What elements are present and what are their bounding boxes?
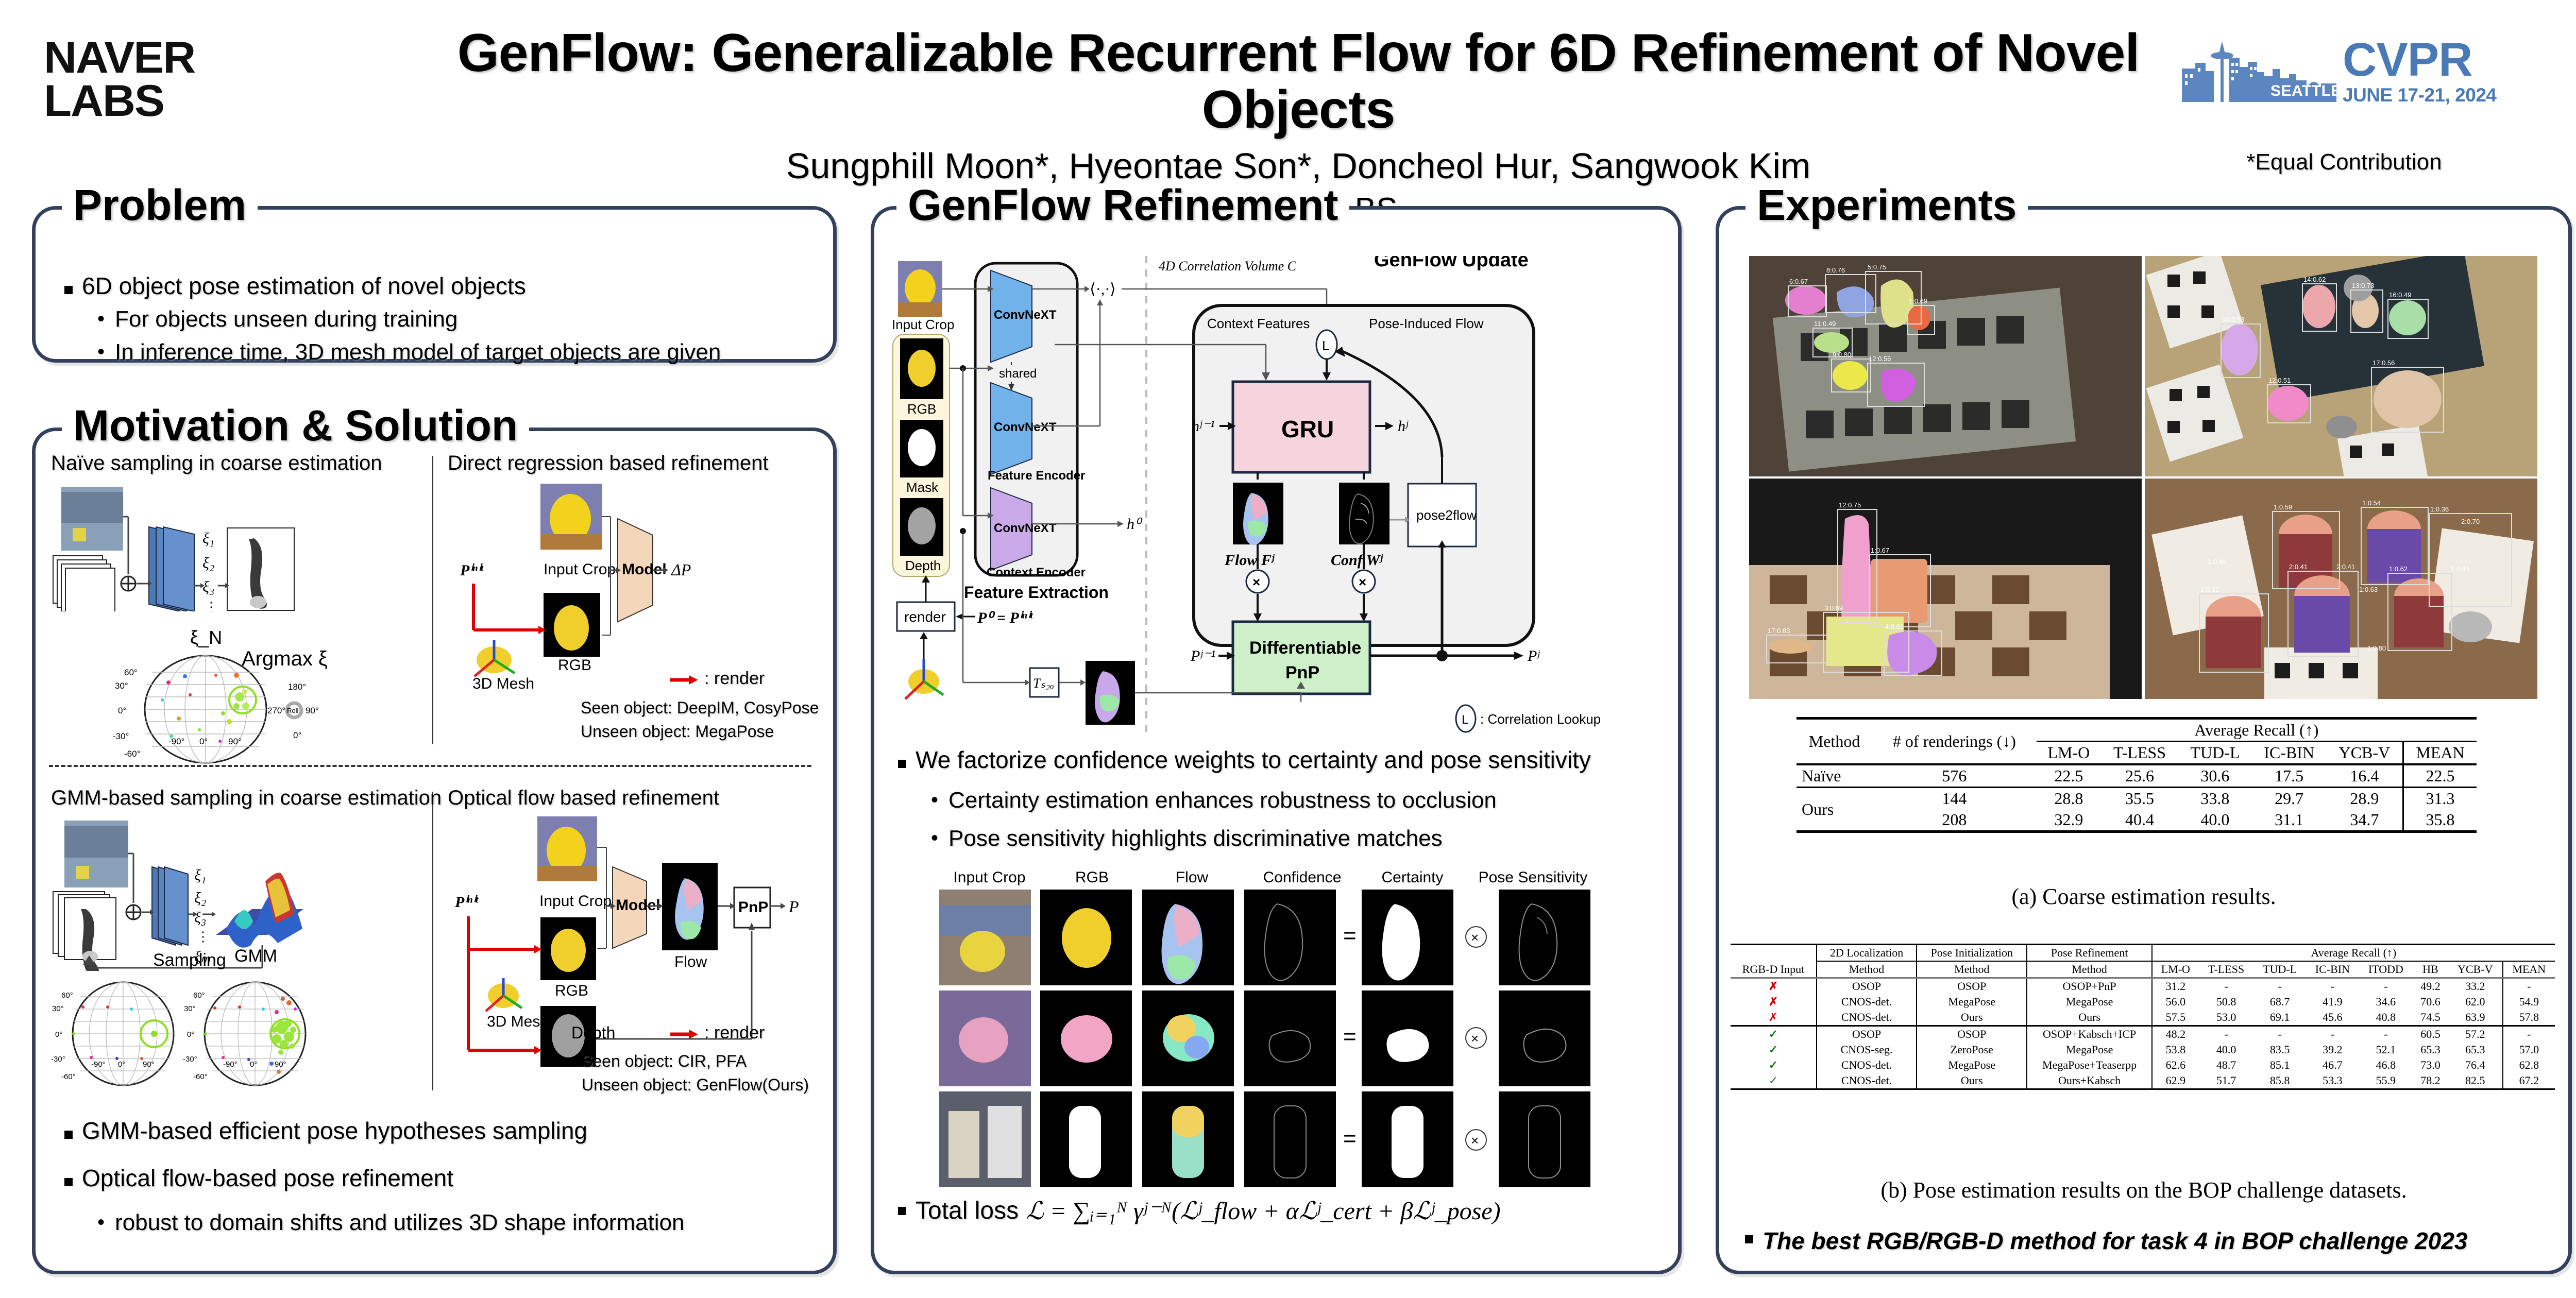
bullet-item: GMM-based efficient pose hypotheses samp… bbox=[64, 1116, 796, 1145]
quadrant-head-gmm-sampling: GMM-based sampling in coarse estimation bbox=[51, 787, 442, 809]
cell: 85.1 bbox=[2253, 1057, 2306, 1073]
cell: 17.5 bbox=[2252, 764, 2327, 788]
note-unseen-object-top: Unseen object: MegaPose bbox=[581, 723, 774, 741]
cell: 25.6 bbox=[2101, 764, 2178, 788]
cell: 48.2 bbox=[2152, 1026, 2199, 1043]
quadrant-divider-top bbox=[432, 456, 433, 744]
problem-bullets: 6D object pose estimation of novel objec… bbox=[36, 210, 833, 366]
table-row: RGB-D Input Method Method Method LM-O T-… bbox=[1731, 961, 2555, 978]
cell: CNOS-det. bbox=[1817, 1010, 1917, 1026]
svg-text:×: × bbox=[1252, 574, 1260, 590]
table-row: ✗ OSOP OSOP OSOP+PnP 31.2 - - - - 49.2 3… bbox=[1731, 978, 2555, 995]
table-row: ✗ CNOS-det. Ours Ours 57.5 53.0 69.1 45.… bbox=[1731, 1010, 2555, 1026]
cell: OSOP bbox=[1817, 1026, 1917, 1043]
label-flow-f: Flow Fʲ bbox=[1224, 552, 1275, 569]
cell: 34.7 bbox=[2327, 809, 2403, 832]
quadrant-head-direct-regression: Direct regression based refinement bbox=[448, 452, 769, 474]
svg-text:ConvNeXT: ConvNeXT bbox=[994, 420, 1057, 434]
grid-header: Certainty bbox=[1365, 869, 1460, 886]
note-seen-object-bottom: Seen object: CIR, PFA bbox=[582, 1052, 747, 1070]
svg-text:1:0.62: 1:0.62 bbox=[2389, 565, 2408, 573]
svg-text:Pⁱⁿⁱᵗ: Pⁱⁿⁱᵗ bbox=[454, 894, 479, 911]
section-motivation: Naïve sampling in coarse estimation ξ₁ ξ bbox=[32, 428, 837, 1274]
render-arrow-icon-top bbox=[669, 672, 700, 688]
cell: 54.9 bbox=[2503, 994, 2555, 1010]
cell: 208 bbox=[1872, 809, 2037, 832]
motivation-bullets: GMM-based efficient pose hypotheses samp… bbox=[64, 1116, 796, 1242]
note-unseen-object-bottom: Unseen object: GenFlow(Ours) bbox=[582, 1076, 809, 1094]
cell: - bbox=[2253, 1026, 2306, 1043]
cell: 53.3 bbox=[2306, 1073, 2359, 1089]
experiments-final-bullet: The best RGB/RGB-D method for task 4 in … bbox=[1745, 1227, 2467, 1255]
svg-text:-30°: -30° bbox=[51, 1055, 65, 1064]
svg-text:17:0.83: 17:0.83 bbox=[1768, 627, 1790, 635]
cell: 57.0 bbox=[2503, 1042, 2555, 1057]
cell: 65.3 bbox=[2413, 1042, 2448, 1057]
cell: OSOP bbox=[1917, 978, 2027, 995]
svg-text:ξ₃: ξ₃ bbox=[194, 909, 206, 926]
svg-text:Input Crop: Input Crop bbox=[544, 561, 616, 578]
rgbd-mark-x: ✗ bbox=[1731, 1010, 1817, 1026]
cell: 63.9 bbox=[2448, 1010, 2503, 1026]
confidence-grid-images: = = = × × × bbox=[939, 890, 1604, 1188]
svg-text:12:0.75: 12:0.75 bbox=[1839, 501, 1861, 509]
col-header-method-3: Method bbox=[2027, 961, 2151, 978]
svg-text:8:0.76: 8:0.76 bbox=[1826, 266, 1845, 274]
svg-text:3D Mesh: 3D Mesh bbox=[487, 1013, 549, 1030]
cell: 56.0 bbox=[2152, 994, 2199, 1010]
table-row: 208 32.9 40.4 40.0 31.1 34.7 35.8 bbox=[1797, 809, 2477, 832]
table-a: Method # of renderings (↓) Average Recal… bbox=[1797, 717, 2477, 833]
svg-text:0°: 0° bbox=[118, 1060, 125, 1069]
cell: 46.7 bbox=[2306, 1057, 2359, 1073]
svg-text:RGB: RGB bbox=[555, 982, 588, 999]
svg-text:RGB: RGB bbox=[558, 657, 591, 674]
cell: CNOS-det. bbox=[1817, 994, 1917, 1010]
svg-text:Roll: Roll bbox=[287, 707, 299, 714]
rgbd-mark-x: ✗ bbox=[1731, 978, 1817, 995]
grid-header: Input Crop bbox=[939, 869, 1040, 886]
cell: MegaPose bbox=[1917, 1057, 2027, 1073]
svg-text:14:0.62: 14:0.62 bbox=[2303, 276, 2326, 283]
cell: MegaPose+Teaserpp bbox=[2027, 1057, 2151, 1073]
table-row: ✓ CNOS-det. MegaPose MegaPose+Teaserpp 6… bbox=[1731, 1057, 2555, 1073]
cvpr-wordmark: CVPR bbox=[2343, 36, 2472, 83]
svg-text:4:0.81: 4:0.81 bbox=[1885, 623, 1904, 630]
cell: 50.8 bbox=[2199, 994, 2253, 1010]
svg-text:GenFlow Update: GenFlow Update bbox=[1374, 256, 1529, 271]
svg-text:0°: 0° bbox=[199, 737, 208, 746]
svg-text:1:0.49: 1:0.49 bbox=[2208, 558, 2226, 566]
cell: 48.7 bbox=[2199, 1057, 2253, 1073]
svg-text:-30°: -30° bbox=[113, 731, 129, 741]
svg-text:1:0.44: 1:0.44 bbox=[2451, 565, 2469, 573]
label-conf-w: Conf Wʲ bbox=[1331, 552, 1383, 569]
cell: 67.2 bbox=[2503, 1073, 2555, 1089]
cell: 51.7 bbox=[2199, 1073, 2253, 1089]
table-row: ✗ CNOS-det. MegaPose MegaPose 56.0 50.8 … bbox=[1731, 994, 2555, 1010]
cell: 22.5 bbox=[2403, 764, 2477, 788]
cell: 576 bbox=[1872, 764, 2037, 788]
sphere-plot-naive: 60°30°0° -30°-60° -90°0°90° 180°270°90° … bbox=[113, 653, 360, 766]
svg-text:-30°: -30° bbox=[183, 1055, 197, 1064]
svg-text:9:0.80: 9:0.80 bbox=[1833, 351, 1851, 358]
svg-text:13:0.73: 13:0.73 bbox=[2352, 282, 2374, 289]
cell: 62.8 bbox=[2503, 1057, 2555, 1073]
render-legend-top: : render bbox=[704, 669, 765, 688]
col-header-method: Method bbox=[1797, 719, 1872, 765]
cell: Ours bbox=[1917, 1010, 2027, 1026]
cell: - bbox=[2306, 978, 2359, 995]
bullet-item: •Certainty estimation enhances robustnes… bbox=[931, 787, 1640, 814]
svg-text:0°: 0° bbox=[55, 1030, 62, 1039]
svg-text:5:0.75: 5:0.75 bbox=[1868, 263, 1886, 271]
col-header-lmo: LM-O bbox=[2037, 742, 2101, 765]
group-header-avg-recall-b: Average Recall (↑) bbox=[2152, 945, 2555, 962]
svg-text:hʲ: hʲ bbox=[1398, 418, 1409, 435]
rgbd-mark-check: ✓ bbox=[1731, 1073, 1817, 1089]
rgbd-mark-check: ✓ bbox=[1731, 1042, 1817, 1057]
equal-contribution-note: *Equal Contribution bbox=[2246, 149, 2442, 175]
render-arrow-icon-bottom bbox=[669, 1027, 700, 1042]
note-seen-object-top: Seen object: DeepIM, CosyPose bbox=[581, 699, 819, 717]
qualitative-results-images: 6:0.678:0.765:0.75 11:0.491:0.699:0.80 1… bbox=[1749, 256, 2537, 699]
cell: 41.9 bbox=[2306, 994, 2359, 1010]
col-header-tless: T-LESS bbox=[2101, 742, 2178, 765]
svg-text:6:0.67: 6:0.67 bbox=[1789, 278, 1808, 285]
svg-text:1:0.32: 1:0.32 bbox=[2200, 586, 2219, 593]
svg-text:270°: 270° bbox=[267, 706, 285, 715]
author-list: Sungphill Moon*, Hyeontae Son*, Doncheol… bbox=[453, 146, 2143, 186]
genflow-architecture-diagram: Input Crop RGB Mask Depth ConvNeXT ConvN… bbox=[885, 256, 1668, 735]
cell: OSOP+PnP bbox=[2027, 978, 2151, 995]
svg-text:⋮: ⋮ bbox=[205, 599, 218, 611]
label-correlation-lookup: : Correlation Lookup bbox=[1480, 711, 1601, 727]
cell: 76.4 bbox=[2448, 1057, 2503, 1073]
svg-text:GRU: GRU bbox=[1281, 416, 1334, 442]
cell: 16.4 bbox=[2327, 764, 2403, 788]
col-header-hb: HB bbox=[2413, 961, 2448, 978]
col-header-method-1: Method bbox=[1817, 961, 1917, 978]
quadrant-divider-bottom bbox=[432, 792, 433, 1090]
svg-text:×: × bbox=[1471, 1031, 1479, 1046]
svg-text:×: × bbox=[1471, 1133, 1479, 1148]
svg-text:⋮: ⋮ bbox=[196, 929, 210, 944]
col-header-tudl-b: TUD-L bbox=[2253, 961, 2306, 978]
cell: 33.8 bbox=[2178, 788, 2252, 810]
cell: 70.6 bbox=[2413, 994, 2448, 1010]
svg-text:-90°: -90° bbox=[168, 737, 184, 746]
sphere-plots-gmm: 60°30°0° -30°-60° -90°0°90° bbox=[51, 976, 432, 1095]
section-experiments: 6:0.678:0.765:0.75 11:0.491:0.699:0.80 1… bbox=[1716, 206, 2572, 1274]
total-loss-formula: ℒ = ∑ᵢ₌₁ᴺ γʲ⁻ᴺ(ℒʲ_flow + αℒʲ_cert + βℒʲ_… bbox=[1026, 1197, 1501, 1225]
cell: 31.1 bbox=[2252, 809, 2327, 832]
col-header-tless-b: T-LESS bbox=[2199, 961, 2253, 978]
cell: 32.9 bbox=[2037, 809, 2101, 832]
svg-text:GMM: GMM bbox=[234, 946, 277, 966]
poster-header: NAVER LABS GenFlow: Generalizable Recurr… bbox=[0, 0, 2576, 191]
gmm-sampling-diagram: ξ₁ ξ₂ ξ₃ ⋮ ξₘ GMM Sampling bbox=[46, 816, 427, 971]
cell: - bbox=[2359, 1026, 2413, 1043]
table-row: Ours 144 28.8 35.5 33.8 29.7 28.9 31.3 bbox=[1797, 788, 2477, 810]
svg-text:1:0.80: 1:0.80 bbox=[2367, 644, 2386, 652]
svg-text:90°: 90° bbox=[143, 1060, 155, 1069]
svg-text:0°: 0° bbox=[250, 1060, 257, 1069]
cell: OSOP bbox=[1817, 978, 1917, 995]
logo-line-1: NAVER bbox=[44, 36, 195, 79]
cell: 35.5 bbox=[2101, 788, 2178, 810]
svg-text:2:0.41: 2:0.41 bbox=[2336, 563, 2355, 571]
cell: 33.2 bbox=[2448, 978, 2503, 995]
cell: 40.0 bbox=[2199, 1042, 2253, 1057]
svg-text:1:0.69: 1:0.69 bbox=[1909, 297, 1927, 305]
cell: 39.2 bbox=[2306, 1042, 2359, 1057]
qualitative-results-grid: 6:0.678:0.765:0.75 11:0.491:0.699:0.80 1… bbox=[1749, 256, 2537, 699]
svg-text:1:0.59: 1:0.59 bbox=[2274, 503, 2292, 511]
cell: 52.1 bbox=[2359, 1042, 2413, 1057]
rgbd-mark-x: ✗ bbox=[1731, 994, 1817, 1010]
col-header-icbin-b: IC-BIN bbox=[2306, 961, 2359, 978]
bullet-item: We factorize confidence weights to certa… bbox=[898, 745, 1640, 774]
cell: 40.4 bbox=[2101, 809, 2178, 832]
total-loss-label: Total loss bbox=[916, 1197, 1019, 1225]
bullet-item: •Pose sensitivity highlights discriminat… bbox=[931, 825, 1640, 852]
cell: 49.2 bbox=[2413, 978, 2448, 995]
svg-text:Pⁱⁿⁱᵗ: Pⁱⁿⁱᵗ bbox=[460, 562, 484, 579]
svg-text:Flow: Flow bbox=[674, 953, 707, 970]
cell: MegaPose bbox=[1917, 994, 2027, 1010]
svg-text:30°: 30° bbox=[184, 1004, 196, 1013]
cvpr-logo: SEATTLE, WA CVPR JUNE 17-21, 2024 bbox=[2182, 31, 2553, 118]
svg-text:0°: 0° bbox=[293, 730, 301, 740]
cell: Ours bbox=[2027, 1010, 2151, 1026]
table-row: ✓ CNOS-det. Ours Ours+Kabsch 62.9 51.7 8… bbox=[1731, 1073, 2555, 1089]
svg-text:×: × bbox=[1359, 574, 1366, 590]
table-b-bottom-rule bbox=[1731, 1089, 2555, 1090]
svg-text:180°: 180° bbox=[288, 682, 306, 692]
col-header-mean: MEAN bbox=[2403, 742, 2477, 765]
group-header-avg-recall: Average Recall (↑) bbox=[2037, 719, 2477, 742]
cell: 62.0 bbox=[2448, 994, 2503, 1010]
svg-text:L: L bbox=[1322, 338, 1329, 353]
cell: 34.6 bbox=[2359, 994, 2413, 1010]
cell: 30.6 bbox=[2178, 764, 2252, 788]
cell: 53.0 bbox=[2199, 1010, 2253, 1026]
cell: - bbox=[2359, 978, 2413, 995]
cell: - bbox=[2306, 1026, 2359, 1043]
svg-text:10:0.53: 10:0.53 bbox=[2222, 316, 2244, 323]
svg-text:ΔP: ΔP bbox=[670, 560, 691, 579]
svg-text:Sampling: Sampling bbox=[153, 950, 226, 970]
cell: 78.2 bbox=[2413, 1073, 2448, 1089]
cell: 53.8 bbox=[2152, 1042, 2199, 1057]
svg-text:Pʲ: Pʲ bbox=[1527, 647, 1540, 664]
quadrant-head-naive-sampling: Naïve sampling in coarse estimation bbox=[51, 452, 382, 474]
svg-text:1:0.63: 1:0.63 bbox=[2359, 586, 2378, 593]
cell: 57.5 bbox=[2152, 1010, 2199, 1026]
cell: 22.5 bbox=[2037, 764, 2101, 788]
col-header-icbin: IC-BIN bbox=[2252, 742, 2327, 765]
direct-regression-diagram: Input Crop Model ΔP Pⁱⁿⁱᵗ RGB 3D Mesh bbox=[443, 481, 814, 697]
grid-header: RGB bbox=[1047, 869, 1137, 886]
caption-table-a: (a) Coarse estimation results. bbox=[1719, 884, 2568, 909]
svg-text:2:0.41: 2:0.41 bbox=[2289, 563, 2308, 571]
table-row: Naïve 576 22.5 25.6 30.6 17.5 16.4 22.5 bbox=[1797, 764, 2477, 788]
svg-text:17:0.56: 17:0.56 bbox=[2372, 359, 2395, 367]
confidence-grid-headers: Input Crop RGB Flow Confidence Certainty… bbox=[939, 869, 1599, 886]
table-row: Method # of renderings (↓) Average Recal… bbox=[1797, 719, 2477, 742]
svg-text:90°: 90° bbox=[275, 1060, 286, 1069]
svg-text:-60°: -60° bbox=[61, 1072, 76, 1081]
rgbd-mark-check: ✓ bbox=[1731, 1057, 1817, 1073]
cell: 69.1 bbox=[2253, 1010, 2306, 1026]
cell: 57.2 bbox=[2448, 1026, 2503, 1043]
confidence-grid: Input Crop RGB Flow Confidence Certainty… bbox=[939, 869, 1599, 1191]
cell: MegaPose bbox=[2027, 994, 2151, 1010]
cell: 57.8 bbox=[2503, 1010, 2555, 1026]
bullet-item: •robust to domain shifts and utilizes 3D… bbox=[97, 1209, 796, 1237]
svg-text:P: P bbox=[788, 897, 799, 916]
section-problem: 6D object pose estimation of novel objec… bbox=[32, 206, 837, 363]
svg-text:ξ₂: ξ₂ bbox=[194, 890, 206, 907]
cell: 82.5 bbox=[2448, 1073, 2503, 1089]
cell: 40.0 bbox=[2178, 809, 2252, 832]
svg-text:PnP: PnP bbox=[738, 899, 768, 916]
cell: 62.6 bbox=[2152, 1057, 2199, 1073]
svg-text:RGB: RGB bbox=[907, 401, 936, 417]
table-bottom-rule bbox=[1797, 832, 2477, 833]
cell: ZeroPose bbox=[1917, 1042, 2027, 1057]
label-depth-br: Depth bbox=[571, 1023, 615, 1043]
table-a-wrapper: Method # of renderings (↓) Average Recal… bbox=[1797, 717, 2477, 833]
cell: 31.2 bbox=[2152, 978, 2199, 995]
svg-text:90°: 90° bbox=[228, 737, 242, 746]
svg-text:12:0.51: 12:0.51 bbox=[2268, 377, 2291, 384]
cell: 46.8 bbox=[2359, 1057, 2413, 1073]
svg-text:60°: 60° bbox=[124, 668, 138, 677]
cell: - bbox=[2199, 1026, 2253, 1043]
cell: 83.5 bbox=[2253, 1042, 2306, 1057]
label-tc2o: Tₛ₂ₒ bbox=[1033, 676, 1054, 691]
cell: - bbox=[2503, 1026, 2555, 1043]
cell: 28.9 bbox=[2327, 788, 2403, 810]
svg-text:Depth: Depth bbox=[905, 558, 941, 573]
svg-text:Context Encoder: Context Encoder bbox=[987, 566, 1086, 579]
svg-text:ξ₃: ξ₃ bbox=[202, 578, 214, 595]
cell: 62.9 bbox=[2152, 1073, 2199, 1089]
cell: OSOP+Kabsch+ICP bbox=[2027, 1026, 2151, 1043]
bullet-item: 6D object pose estimation of novel objec… bbox=[64, 271, 804, 300]
label-input-crop: Input Crop bbox=[892, 317, 954, 332]
group-header-2d-localization: 2D Localization bbox=[1817, 945, 1917, 962]
grid-header: Pose Sensitivity bbox=[1467, 869, 1599, 886]
svg-text:ξ₁: ξ₁ bbox=[194, 867, 206, 884]
section-title-experiments: Experiments bbox=[1745, 183, 2028, 227]
cell: 73.0 bbox=[2413, 1057, 2448, 1073]
col-header-ycbv: YCB-V bbox=[2327, 742, 2403, 765]
grid-header: Flow bbox=[1144, 869, 1240, 886]
caption-table-b: (b) Pose estimation results on the BOP c… bbox=[1719, 1178, 2568, 1203]
svg-text:2:0.70: 2:0.70 bbox=[2461, 518, 2480, 525]
svg-text:30°: 30° bbox=[52, 1004, 64, 1013]
col-header-renderings: # of renderings (↓) bbox=[1872, 719, 2037, 765]
cell: Naïve bbox=[1797, 764, 1872, 788]
svg-text:-60°: -60° bbox=[193, 1072, 208, 1081]
rgbd-mark-check: ✓ bbox=[1731, 1026, 1817, 1043]
group-header-pose-refine: Pose Refinement bbox=[2027, 945, 2151, 962]
svg-text:=: = bbox=[1343, 923, 1357, 948]
cell: - bbox=[2199, 978, 2253, 995]
svg-text:ξ₁: ξ₁ bbox=[202, 530, 214, 547]
label-pose2flow: pose2flow bbox=[1416, 507, 1477, 523]
svg-text:Differentiable: Differentiable bbox=[1249, 638, 1361, 658]
col-header-method-2: Method bbox=[1917, 961, 2027, 978]
col-header-tudl: TUD-L bbox=[2178, 742, 2252, 765]
col-header-rgbd-input: RGB-D Input bbox=[1731, 961, 1817, 978]
cell: Ours+Kabsch bbox=[2027, 1073, 2151, 1089]
svg-text:shared: shared bbox=[999, 367, 1037, 381]
table-row: ✓ CNOS-seg. ZeroPose MegaPose 53.8 40.0 … bbox=[1731, 1042, 2555, 1057]
svg-text:3D Mesh: 3D Mesh bbox=[472, 675, 534, 692]
svg-text:90°: 90° bbox=[306, 706, 319, 715]
naver-labs-logo: NAVER LABS bbox=[44, 36, 195, 123]
total-loss-line: Total loss ℒ = ∑ᵢ₌₁ᴺ γʲ⁻ᴺ(ℒʲ_flow + αℒʲ_… bbox=[898, 1197, 1501, 1225]
cell: Ours bbox=[1797, 788, 1872, 832]
svg-text:Feature Extraction: Feature Extraction bbox=[964, 583, 1109, 602]
svg-text:Context Features: Context Features bbox=[1207, 316, 1310, 331]
svg-text:0°: 0° bbox=[187, 1030, 194, 1039]
grid-header: Confidence bbox=[1247, 869, 1358, 886]
svg-text:12:0.56: 12:0.56 bbox=[1869, 355, 1891, 363]
cell: 28.8 bbox=[2037, 788, 2101, 810]
svg-text:⟨·,·⟩: ⟨·,·⟩ bbox=[1090, 281, 1116, 298]
svg-text:11:0.49: 11:0.49 bbox=[1814, 320, 1836, 328]
label-xi-n: ξ_N bbox=[190, 627, 222, 648]
cell: 55.9 bbox=[2359, 1073, 2413, 1089]
svg-text:3:0.69: 3:0.69 bbox=[1824, 604, 1843, 612]
bullet-item: Optical flow-based pose refinement bbox=[64, 1164, 796, 1192]
section-title-problem: Problem bbox=[62, 183, 258, 227]
svg-text:1:0.54: 1:0.54 bbox=[2362, 499, 2381, 507]
svg-text:Feature Encoder: Feature Encoder bbox=[988, 469, 1085, 483]
svg-text:16:0.49: 16:0.49 bbox=[2389, 291, 2411, 299]
final-bullet-text: The best RGB/RGB-D method for task 4 in … bbox=[1762, 1227, 2467, 1255]
svg-text:ConvNeXT: ConvNeXT bbox=[994, 308, 1057, 322]
col-header-lmo-b: LM-O bbox=[2152, 961, 2199, 978]
svg-text:0°: 0° bbox=[118, 706, 126, 715]
genflow-bullets: We factorize confidence weights to certa… bbox=[898, 745, 1640, 857]
cell: - bbox=[2253, 978, 2306, 995]
cell: 45.6 bbox=[2306, 1010, 2359, 1026]
svg-text:1:0.36: 1:0.36 bbox=[2430, 505, 2449, 513]
cell: 35.8 bbox=[2403, 809, 2477, 832]
table-b-wrapper: 2D Localization Pose Initialization Pose… bbox=[1731, 944, 2555, 1090]
svg-text:PnP: PnP bbox=[1285, 663, 1319, 682]
section-title-genflow: GenFlow Refinement bbox=[896, 183, 1349, 227]
svg-text:hʲ⁻¹: hʲ⁻¹ bbox=[1192, 418, 1215, 435]
cell: 74.5 bbox=[2413, 1010, 2448, 1026]
table-b: 2D Localization Pose Initialization Pose… bbox=[1731, 944, 2555, 1090]
svg-text:=: = bbox=[1343, 1024, 1357, 1049]
cell: 144 bbox=[1872, 788, 2037, 810]
bullet-item: •For objects unseen during training bbox=[97, 305, 804, 333]
svg-text:h⁰: h⁰ bbox=[1127, 516, 1143, 533]
svg-text:1:0.67: 1:0.67 bbox=[1871, 546, 1889, 554]
svg-text:-90°: -90° bbox=[223, 1060, 238, 1069]
col-header-itodd: ITODD bbox=[2359, 961, 2413, 978]
cell: 85.8 bbox=[2253, 1073, 2306, 1089]
svg-text:=: = bbox=[1343, 1126, 1357, 1151]
